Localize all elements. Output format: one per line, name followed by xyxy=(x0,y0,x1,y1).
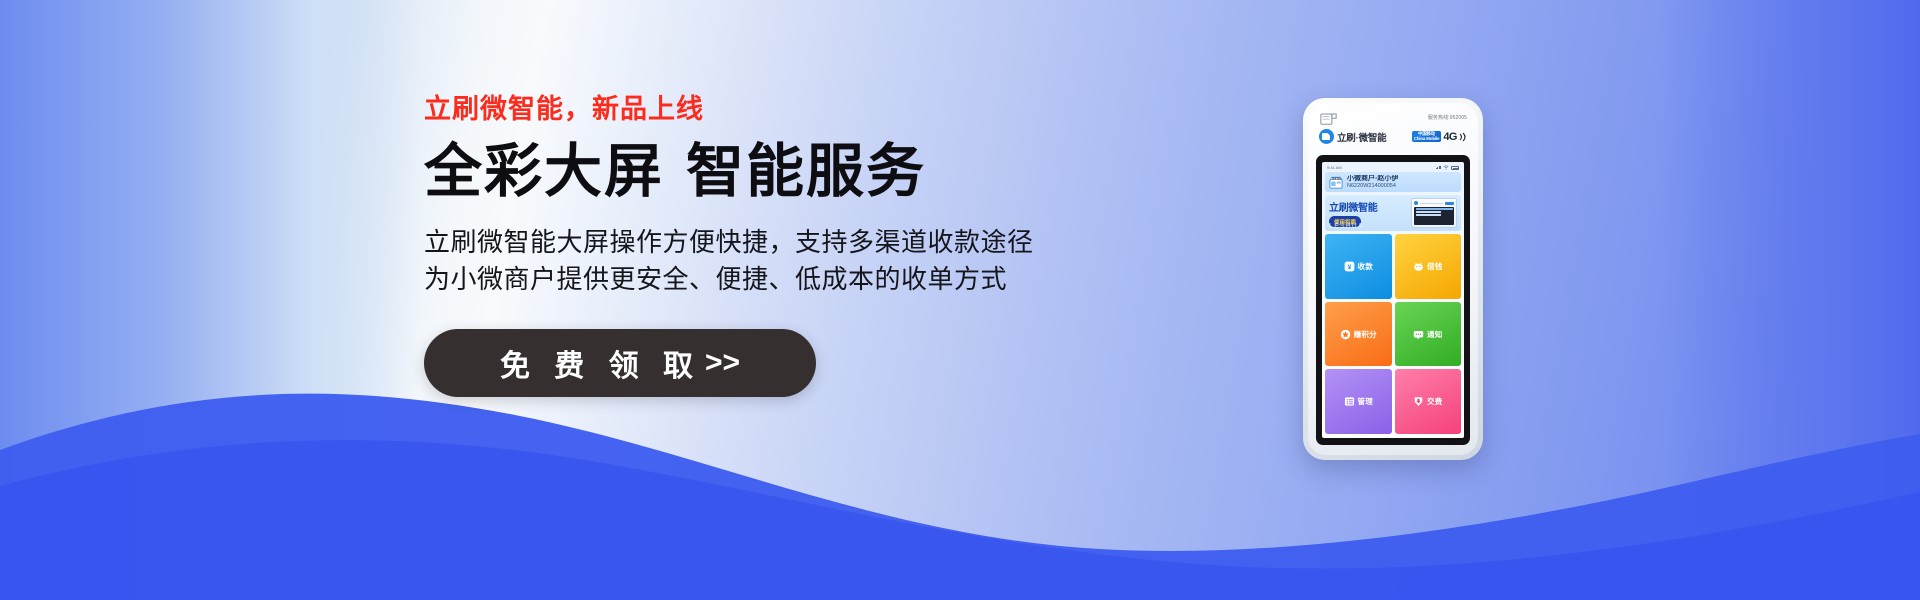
screen-status-bar: 9:41 AM xyxy=(1325,165,1461,172)
network-type-label: 4G xyxy=(1443,131,1457,143)
headline-part-right: 智能服务 xyxy=(686,139,926,204)
pos-terminal-device: 服务热线:952005 立刷·微智能 中国移动 China Mobile 4G xyxy=(1303,98,1483,460)
promo-card[interactable]: 立刷微智能 使用指南 LESHUA xyxy=(1325,195,1461,231)
pos-terminal-body: 服务热线:952005 立刷·微智能 中国移动 China Mobile 4G xyxy=(1308,103,1478,455)
app-tile-label: 交费 xyxy=(1427,396,1442,407)
description-text: 立刷微智能大屏操作方便快捷，支持多渠道收款途径 为小微商户提供更安全、便捷、低成… xyxy=(424,224,1244,299)
app-tile-shoukuan[interactable]: ¥ 收款 xyxy=(1325,234,1392,299)
app-tile-label: 通知 xyxy=(1427,329,1442,340)
wifi-icon xyxy=(1443,165,1449,170)
app-tile-tongzhi[interactable]: 通知 xyxy=(1395,302,1462,367)
page-title: 全彩大屏智能服务 xyxy=(424,141,1244,204)
app-tile-label: 收款 xyxy=(1358,261,1373,272)
promo-thumbnail-icon xyxy=(1411,198,1457,228)
app-tile-jiaofei[interactable]: 交费 xyxy=(1395,369,1462,434)
piggy-icon xyxy=(1413,261,1424,272)
app-tile-zhuanjifen[interactable]: 赚积分 xyxy=(1325,302,1392,367)
eyebrow-text: 立刷微智能，新品上线 xyxy=(424,96,1244,123)
description-line-2: 为小微商户提供更安全、便捷、低成本的收单方式 xyxy=(424,261,1244,299)
free-claim-button[interactable]: 免 费 领 取 >> xyxy=(424,329,816,397)
chat-icon xyxy=(1413,329,1424,340)
list-icon xyxy=(1344,396,1355,407)
download-icon xyxy=(1413,396,1424,407)
leshua-logo-icon xyxy=(1319,129,1334,144)
merchant-card[interactable]: 小微商户-赵小伊 N6220W214000054 xyxy=(1325,172,1461,192)
brand-logo: 立刷·微智能 xyxy=(1319,129,1386,144)
background-left-glow xyxy=(0,0,420,600)
status-indicators xyxy=(1436,165,1460,170)
thumbnail-dot xyxy=(1414,201,1418,205)
headline-part-left: 全彩大屏 xyxy=(424,139,664,204)
brand-row: 立刷·微智能 中国移动 China Mobile 4G xyxy=(1319,129,1468,144)
carrier-badge-icon: 中国移动 China Mobile xyxy=(1412,131,1442,142)
brand-name-label: 立刷·微智能 xyxy=(1337,130,1386,144)
star-icon xyxy=(1340,329,1351,340)
storefront-icon xyxy=(1329,176,1343,189)
cta-label: 免 费 领 取 xyxy=(500,341,701,385)
promo-guide-button[interactable]: 使用指南 xyxy=(1329,216,1361,227)
app-tile-label: 赚积分 xyxy=(1354,329,1377,340)
status-time: 9:41 AM xyxy=(1327,165,1342,170)
thumbnail-header-row xyxy=(1414,201,1454,205)
double-chevron-right-icon: >> xyxy=(705,346,740,380)
merchant-serial-number: N6220W214000054 xyxy=(1347,183,1398,189)
merchant-name: 小微商户-赵小伊 xyxy=(1347,175,1398,183)
promo-card-text: 立刷微智能 使用指南 xyxy=(1329,199,1378,227)
svg-text:¥: ¥ xyxy=(1347,264,1351,271)
thumbnail-screen-line xyxy=(1416,211,1442,213)
app-tile-label: 管理 xyxy=(1358,396,1373,407)
promo-title: 立刷微智能 xyxy=(1329,199,1378,214)
description-line-1: 立刷微智能大屏操作方便快捷，支持多渠道收款途径 xyxy=(424,224,1244,262)
thumbnail-screen-line xyxy=(1416,214,1442,216)
battery-icon xyxy=(1451,166,1459,170)
thumbnail-screen-line xyxy=(1416,208,1453,210)
app-tile-jieqian[interactable]: 借钱 xyxy=(1395,234,1462,299)
app-tile-label: 借钱 xyxy=(1427,261,1442,272)
merchant-info: 小微商户-赵小伊 N6220W214000054 xyxy=(1347,175,1398,189)
background-right-edge xyxy=(1660,0,1920,600)
thumbnail-screen xyxy=(1414,207,1454,226)
promo-banner: 立刷微智能，新品上线 全彩大屏智能服务 立刷微智能大屏操作方便快捷，支持多渠道收… xyxy=(0,0,1920,600)
yuan-icon: ¥ xyxy=(1344,261,1355,272)
copy-block: 立刷微智能，新品上线 全彩大屏智能服务 立刷微智能大屏操作方便快捷，支持多渠道收… xyxy=(424,96,1244,397)
service-hotline: 服务热线:952005 xyxy=(1428,114,1467,121)
thumbnail-chip xyxy=(1445,202,1454,205)
pos-screen[interactable]: 9:41 AM xyxy=(1322,162,1464,438)
thumbnail-line xyxy=(1420,203,1443,205)
app-tile-grid: ¥ 收款 xyxy=(1325,234,1461,434)
cellular-signal-icon xyxy=(1436,166,1442,170)
screen-bezel: 9:41 AM xyxy=(1316,155,1470,445)
signal-waves-icon xyxy=(1459,132,1468,142)
network-indicator: 中国移动 China Mobile 4G xyxy=(1412,131,1468,143)
app-tile-guanli[interactable]: 管理 xyxy=(1325,369,1392,434)
printer-icon xyxy=(1320,113,1337,127)
carrier-line-2: China Mobile xyxy=(1414,136,1440,141)
pos-terminal-header: 服务热线:952005 立刷·微智能 中国移动 China Mobile 4G xyxy=(1316,111,1470,155)
